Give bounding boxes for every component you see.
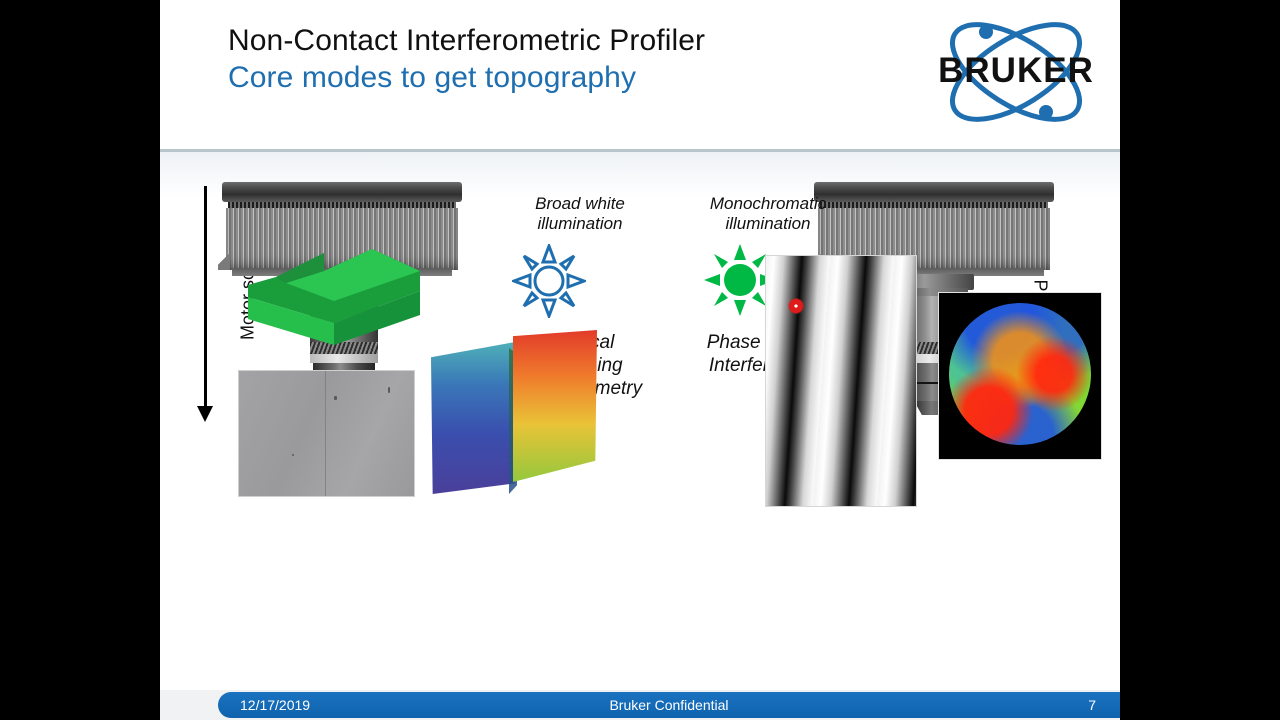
illumination-caption-right: Monochromatic illumination <box>668 194 868 235</box>
micrograph-speck <box>334 396 337 400</box>
topography-high-step <box>513 330 597 482</box>
green-step-sample-3d <box>238 245 428 355</box>
circular-false-color-height-map <box>938 292 1102 460</box>
sun-outline-icon <box>512 244 586 323</box>
grey-step-micrograph <box>238 370 415 497</box>
false-color-step-topography <box>425 320 600 505</box>
objective-top-bar <box>222 182 462 202</box>
interference-fringe-pattern <box>765 255 917 507</box>
motor-scanning-arrow-head <box>197 406 213 422</box>
objective-bevel <box>218 250 230 270</box>
illumination-right-line2: illumination <box>668 214 868 234</box>
presentation-slide: Non-Contact Interferometric Profiler Cor… <box>160 0 1120 720</box>
illumination-right-line1: Monochromatic <box>668 194 868 214</box>
bruker-wordmark: BRUKER <box>938 51 1094 90</box>
page-subtitle: Core modes to get topography <box>228 59 868 96</box>
illumination-caption-left: Broad white illumination <box>490 194 670 235</box>
video-letterbox-stage: Non-Contact Interferometric Profiler Cor… <box>0 0 1280 720</box>
page-title: Non-Contact Interferometric Profiler <box>228 22 868 59</box>
illumination-left-line1: Broad white <box>490 194 670 214</box>
micrograph-speck <box>292 454 294 456</box>
footer-confidentiality: Bruker Confidential <box>218 697 1120 713</box>
bruker-logo-graphic: BRUKER <box>928 14 1104 130</box>
micrograph-speck <box>388 387 390 393</box>
footer-strip: 12/17/2019 Bruker Confidential 7 <box>160 690 1120 720</box>
motor-scanning-arrow-shaft <box>204 186 207 408</box>
bruker-logo: BRUKER <box>928 14 1104 130</box>
fringe-red-marker <box>788 298 804 314</box>
objective-white-band <box>310 354 378 363</box>
micrograph-step-edge <box>325 371 327 496</box>
footer-bar: 12/17/2019 Bruker Confidential 7 <box>218 692 1120 718</box>
topography-low-step <box>431 342 515 494</box>
slide-title-block: Non-Contact Interferometric Profiler Cor… <box>228 22 868 96</box>
illumination-left-line2: illumination <box>490 214 670 234</box>
footer-page-number: 7 <box>1088 697 1096 713</box>
heatmap-disc <box>949 303 1091 445</box>
